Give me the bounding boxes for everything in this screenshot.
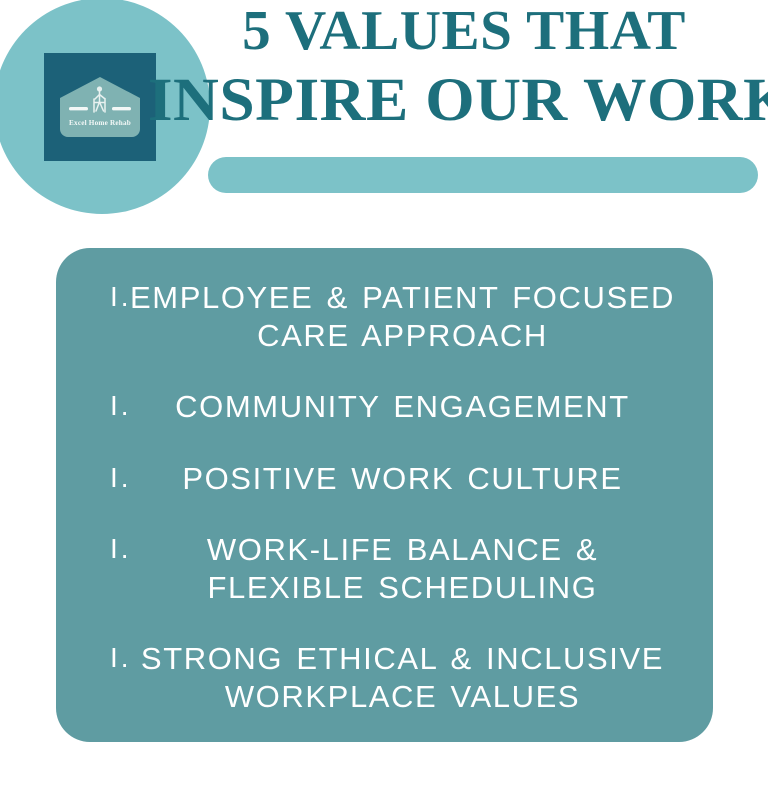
house-with-walker-icon: Excel Home Rehab (54, 71, 146, 143)
value-item-4: I. WORK-LIFE BALANCE & FLEXIBLE SCHEDULI… (74, 531, 695, 606)
value-item-5: I. STRONG ETHICAL & INCLUSIVE WORKPLACE … (74, 640, 695, 715)
value-item-3: I. POSITIVE WORK CULTURE (74, 460, 695, 498)
value-marker: I. (110, 460, 132, 495)
brand-logo-text: Excel Home Rehab (69, 119, 131, 127)
value-label: POSITIVE WORK CULTURE (110, 460, 695, 498)
values-poster: Excel Home Rehab 5 VALUES THAT INSPIRE O… (0, 0, 768, 787)
value-label: STRONG ETHICAL & INCLUSIVE WORKPLACE VAL… (110, 640, 695, 715)
value-marker: I. (110, 279, 132, 314)
title-line-2: INSPIRE OUR WORK (148, 71, 768, 131)
title-underline-bar (208, 157, 758, 193)
value-marker: I. (110, 531, 132, 566)
title-line-1: 5 VALUES THAT (154, 4, 768, 59)
values-card: I. EMPLOYEE & PATIENT FOCUSED CARE APPRO… (56, 248, 713, 742)
value-marker: I. (110, 640, 132, 675)
value-label: EMPLOYEE & PATIENT FOCUSED CARE APPROACH (110, 279, 695, 354)
value-item-2: I. COMMUNITY ENGAGEMENT (74, 388, 695, 426)
value-label: WORK-LIFE BALANCE & FLEXIBLE SCHEDULING (110, 531, 695, 606)
value-marker: I. (110, 388, 132, 423)
brand-logo: Excel Home Rehab (44, 53, 156, 161)
value-label: COMMUNITY ENGAGEMENT (110, 388, 695, 426)
page-title: 5 VALUES THAT INSPIRE OUR WORK (160, 4, 768, 131)
value-item-1: I. EMPLOYEE & PATIENT FOCUSED CARE APPRO… (74, 279, 695, 354)
